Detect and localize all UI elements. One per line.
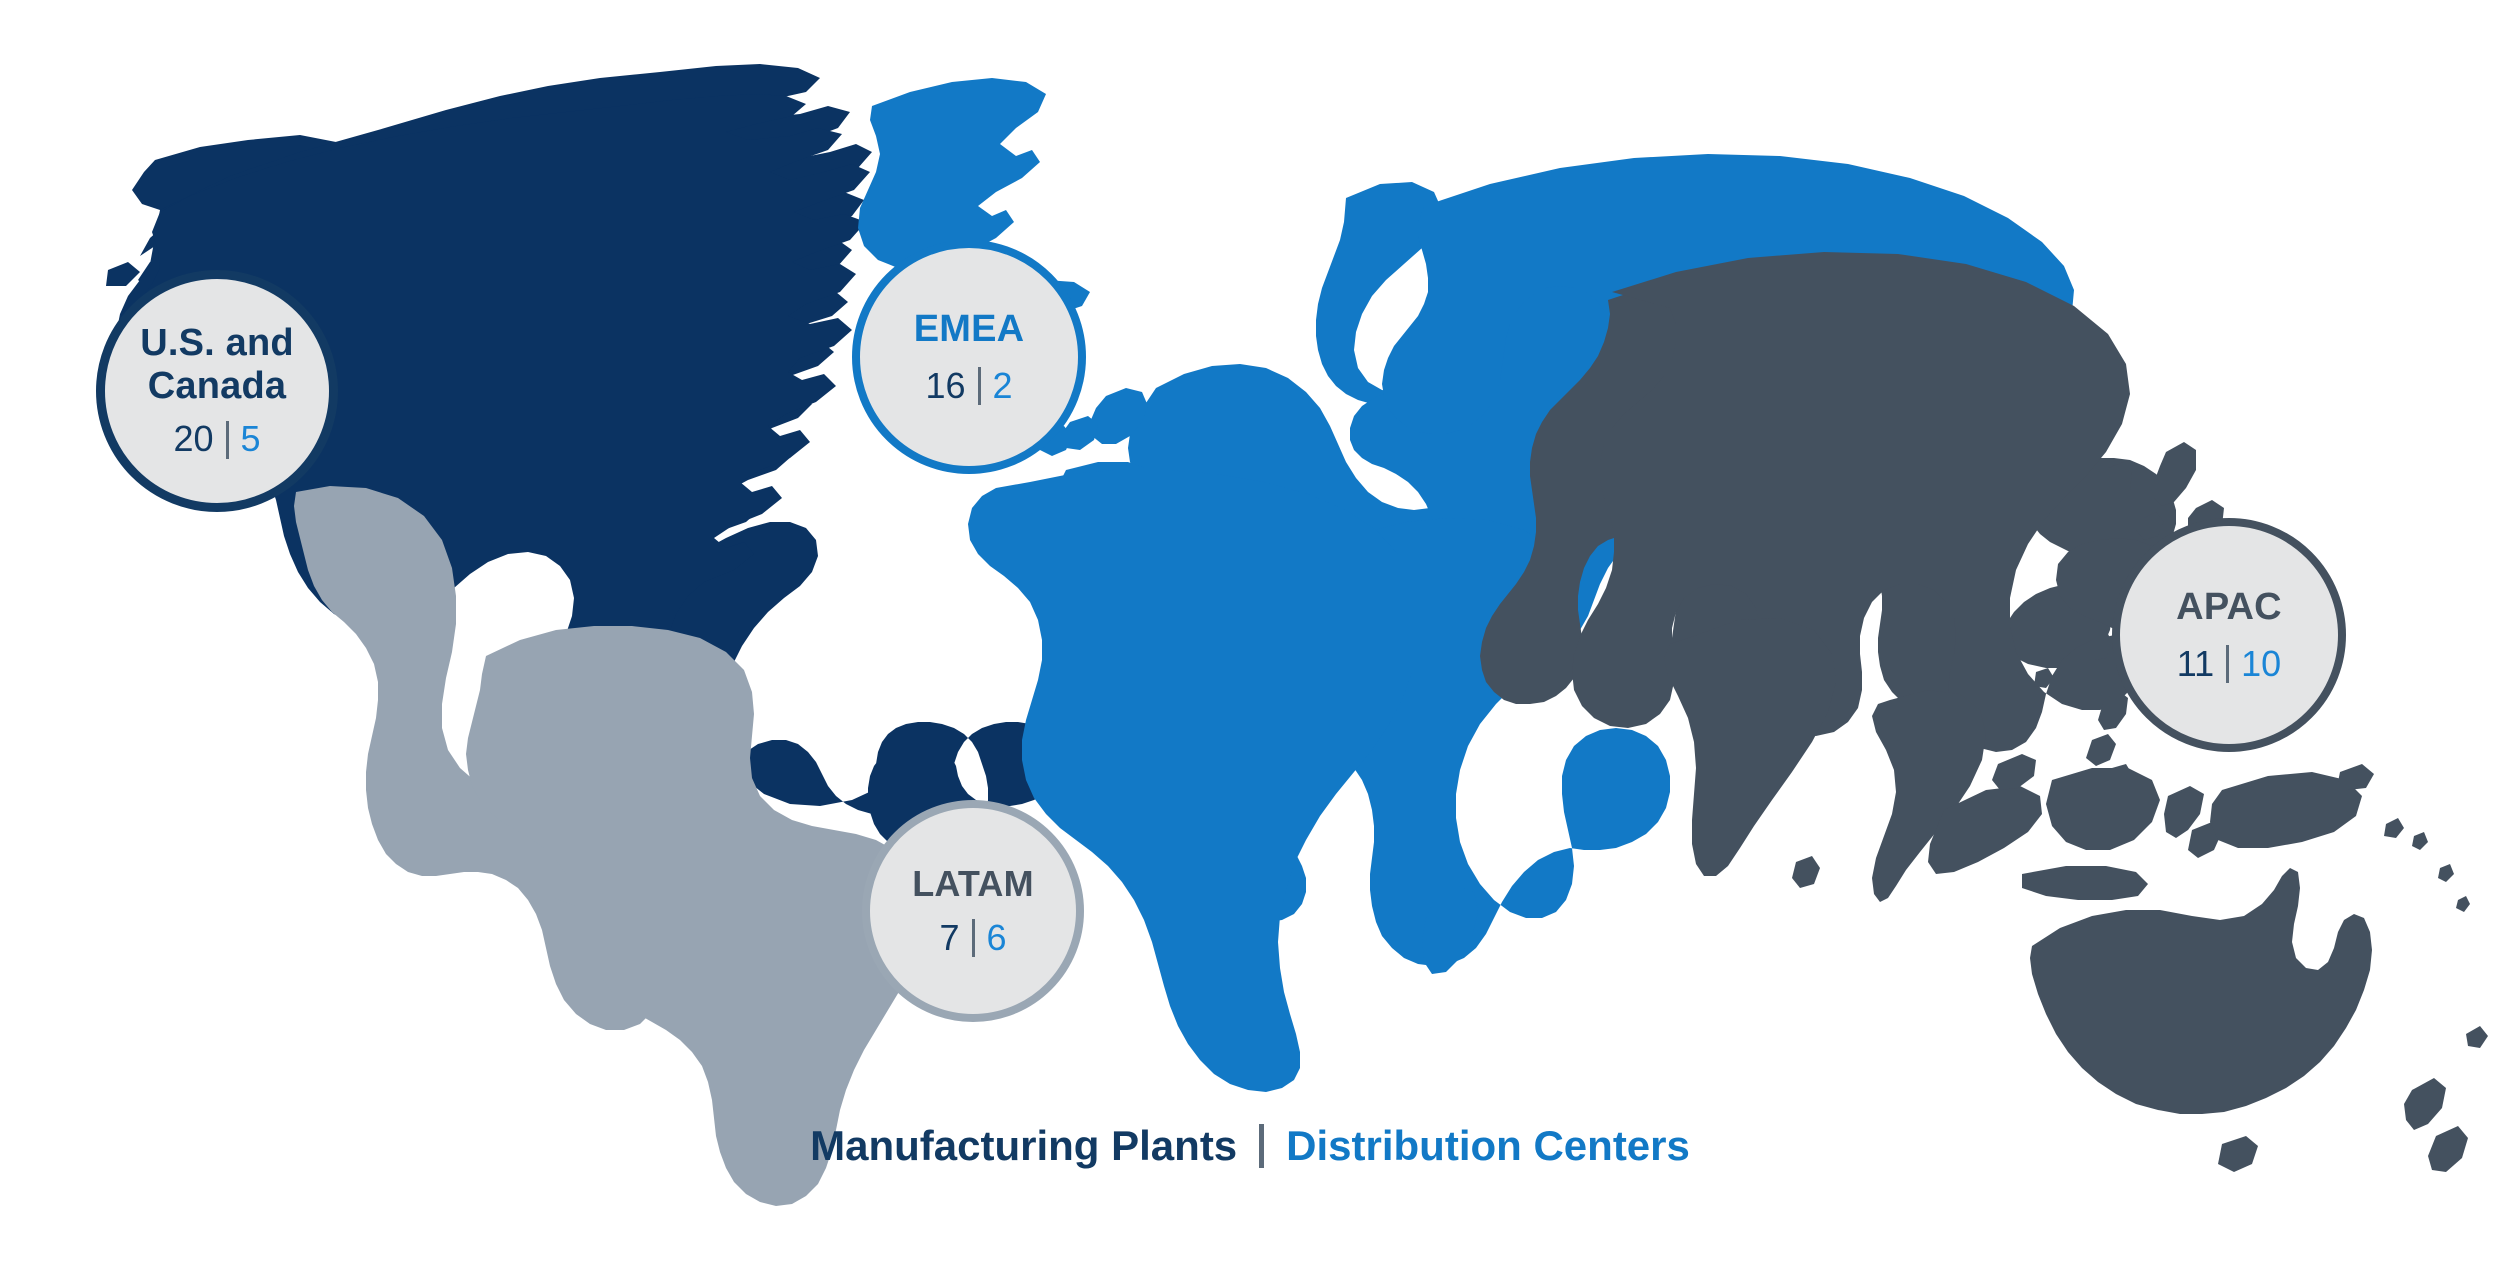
- bubble-title-line1: U.S. and: [140, 322, 294, 364]
- legend-label-manufacturing-plants: Manufacturing Plants: [810, 1122, 1237, 1170]
- stat-centers-apac: 10: [2241, 644, 2281, 684]
- region-bubble-us-canada[interactable]: U.S. and Canada 20 5: [96, 270, 338, 512]
- map-region-apac: [1480, 252, 2488, 1172]
- bubble-title-apac: APAC: [2176, 586, 2282, 629]
- stat-centers-us-canada: 5: [241, 419, 261, 459]
- legend-separator: [1259, 1124, 1264, 1168]
- infographic-canvas: U.S. and Canada 20 5 EMEA 16 2 APAC 11 1…: [0, 0, 2500, 1268]
- legend-label-distribution-centers: Distribution Centers: [1286, 1122, 1690, 1170]
- bubble-stats-apac: 11 10: [2177, 644, 2281, 684]
- stat-separator: [226, 421, 229, 459]
- stat-separator: [972, 919, 975, 957]
- stat-plants-us-canada: 20: [173, 419, 213, 459]
- stat-plants-latam: 7: [939, 918, 959, 958]
- region-bubble-latam[interactable]: LATAM 7 6: [862, 800, 1084, 1022]
- bubble-stats-us-canada: 20 5: [173, 419, 260, 459]
- stat-plants-apac: 11: [2177, 644, 2214, 684]
- bubble-stats-emea: 16 2: [925, 366, 1012, 406]
- stat-plants-emea: 16: [925, 366, 965, 406]
- bubble-title-emea: EMEA: [914, 308, 1025, 351]
- stat-separator: [978, 367, 981, 405]
- bubble-title-line2: Canada: [148, 365, 286, 407]
- bubble-title-latam: LATAM: [912, 864, 1034, 904]
- stat-separator: [2226, 645, 2229, 683]
- legend: Manufacturing Plants Distribution Center…: [0, 1122, 2500, 1170]
- bubble-title-us-canada: U.S. and Canada: [140, 322, 294, 407]
- region-bubble-apac[interactable]: APAC 11 10: [2112, 518, 2346, 752]
- region-bubble-emea[interactable]: EMEA 16 2: [852, 240, 1086, 474]
- bubble-stats-latam: 7 6: [939, 918, 1006, 958]
- stat-centers-emea: 2: [993, 366, 1013, 406]
- stat-centers-latam: 6: [987, 918, 1007, 958]
